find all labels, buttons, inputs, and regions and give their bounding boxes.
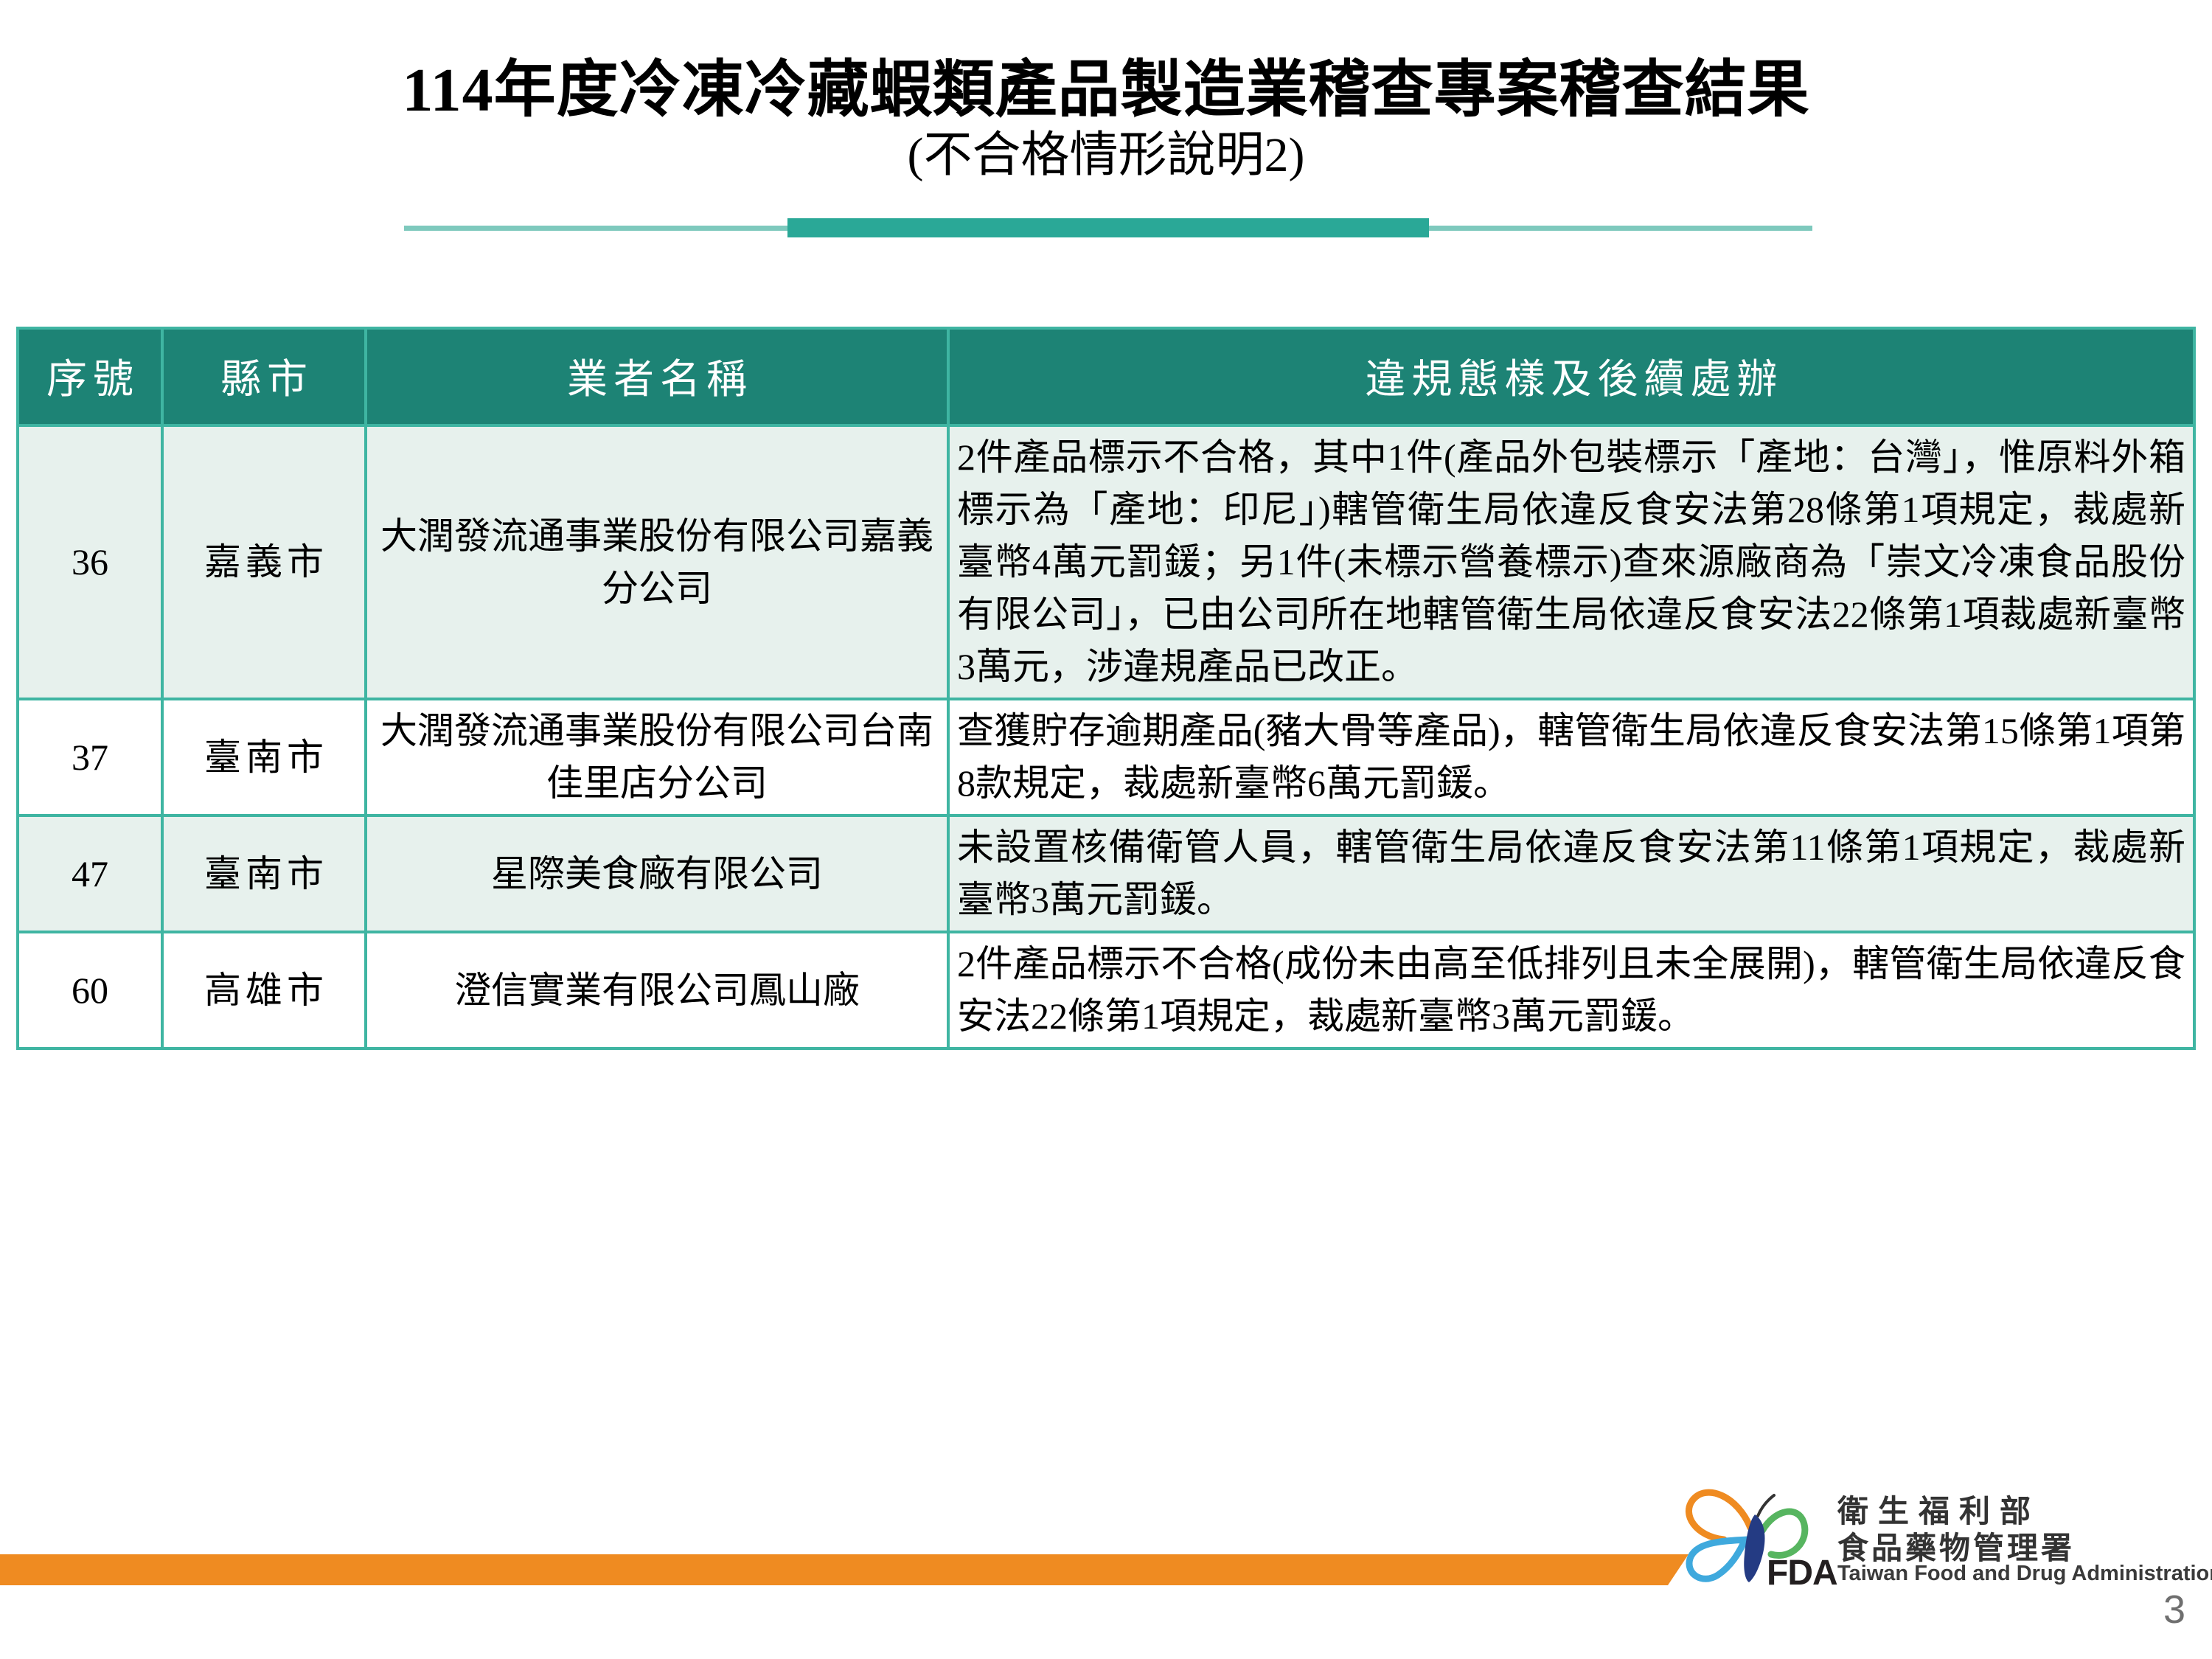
fda-logo: FDA 衛生福利部 食品藥物管理署 Taiwan Food and Drug A… <box>1680 1482 2137 1593</box>
title-divider <box>404 218 1812 240</box>
column-header-city: 縣市 <box>162 328 366 425</box>
cell-city: 高雄市 <box>162 932 366 1048</box>
cell-name: 大潤發流通事業股份有限公司台南佳里店分公司 <box>366 699 948 815</box>
cell-city: 臺南市 <box>162 699 366 815</box>
violations-table: 序號 縣市 業者名稱 違規態樣及後續處辦 36 嘉義市 大潤發流通事業股份有限公… <box>16 327 2196 1050</box>
cell-city: 嘉義市 <box>162 425 366 699</box>
table-header-row: 序號 縣市 業者名稱 違規態樣及後續處辦 <box>18 328 2194 425</box>
cell-desc: 2件產品標示不合格，其中1件(產品外包裝標示「產地：台灣」，惟原料外箱標示為「產… <box>948 425 2194 699</box>
cell-name: 澄信實業有限公司鳳山廠 <box>366 932 948 1048</box>
table-row: 47 臺南市 星際美食廠有限公司 未設置核備衛管人員，轄管衛生局依違反食安法第1… <box>18 815 2194 932</box>
cell-name: 星際美食廠有限公司 <box>366 815 948 932</box>
cell-city: 臺南市 <box>162 815 366 932</box>
fda-org-english: Taiwan Food and Drug Administration <box>1837 1562 2212 1586</box>
column-header-seq: 序號 <box>18 328 162 425</box>
divider-thick-bar <box>787 218 1429 237</box>
cell-seq: 60 <box>18 932 162 1048</box>
page-number: 3 <box>2163 1587 2185 1632</box>
cell-desc: 未設置核備衛管人員，轄管衛生局依違反食安法第11條第1項規定，裁處新臺幣3萬元罰… <box>948 815 2194 932</box>
cell-seq: 36 <box>18 425 162 699</box>
cell-seq: 37 <box>18 699 162 815</box>
page-subtitle: (不合格情形說明2) <box>0 128 2212 184</box>
cell-name: 大潤發流通事業股份有限公司嘉義分公司 <box>366 425 948 699</box>
column-header-desc: 違規態樣及後續處辦 <box>948 328 2194 425</box>
page-title-block: 114年度冷凍冷藏蝦類產品製造業稽查專案稽查結果 (不合格情形說明2) <box>0 58 2212 184</box>
fda-abbr-text: FDA <box>1767 1553 1837 1593</box>
footer-orange-bar <box>0 1554 1688 1585</box>
table-row: 60 高雄市 澄信實業有限公司鳳山廠 2件產品標示不合格(成份未由高至低排列且未… <box>18 932 2194 1048</box>
cell-seq: 47 <box>18 815 162 932</box>
violations-table-container: 序號 縣市 業者名稱 違規態樣及後續處辦 36 嘉義市 大潤發流通事業股份有限公… <box>16 327 2196 1050</box>
table-row: 36 嘉義市 大潤發流通事業股份有限公司嘉義分公司 2件產品標示不合格，其中1件… <box>18 425 2194 699</box>
column-header-name: 業者名稱 <box>366 328 948 425</box>
cell-desc: 查獲貯存逾期產品(豬大骨等產品)，轄管衛生局依違反食安法第15條第1項第8款規定… <box>948 699 2194 815</box>
page-title: 114年度冷凍冷藏蝦類產品製造業稽查專案稽查結果 <box>0 58 2212 125</box>
cell-desc: 2件產品標示不合格(成份未由高至低排列且未全展開)，轄管衛生局依違反食安法22條… <box>948 932 2194 1048</box>
table-row: 37 臺南市 大潤發流通事業股份有限公司台南佳里店分公司 查獲貯存逾期產品(豬大… <box>18 699 2194 815</box>
